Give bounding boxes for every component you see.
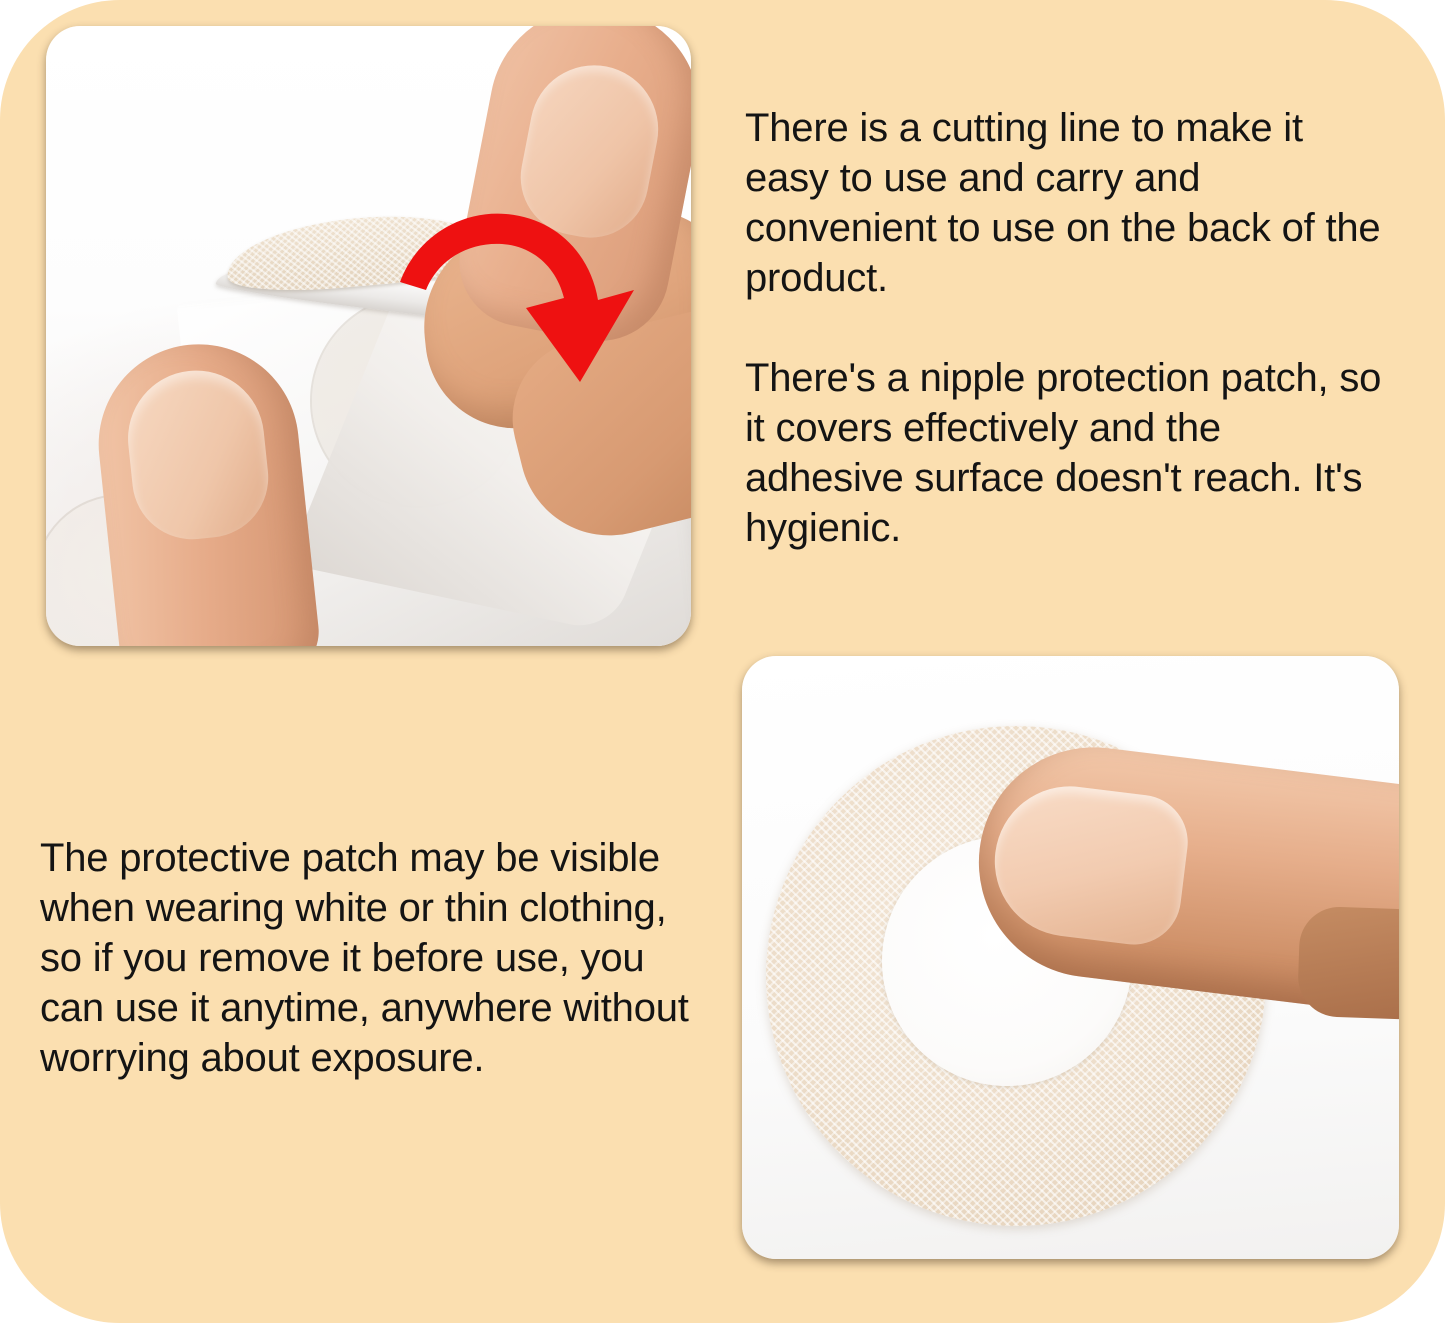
fingernail-pressing — [986, 778, 1193, 950]
thumbnail-lower-left — [121, 364, 274, 545]
paragraph-nipple-protection: There's a nipple protection patch, so it… — [745, 353, 1383, 553]
feature-text-bottom-left: The protective patch may be visible when… — [40, 833, 712, 1083]
paragraph-cutting-line: There is a cutting line to make it easy … — [745, 103, 1383, 303]
feature-text-right: There is a cutting line to make it easy … — [745, 103, 1383, 553]
product-infographic-panel: There is a cutting line to make it easy … — [0, 0, 1445, 1323]
peeling-backing-photo — [46, 26, 691, 646]
patch-with-finger-photo — [742, 656, 1399, 1259]
paragraph-protective-patch: The protective patch may be visible when… — [40, 833, 712, 1083]
finger-knuckle — [1297, 906, 1399, 1021]
curved-peel-arrow-icon — [398, 204, 658, 394]
